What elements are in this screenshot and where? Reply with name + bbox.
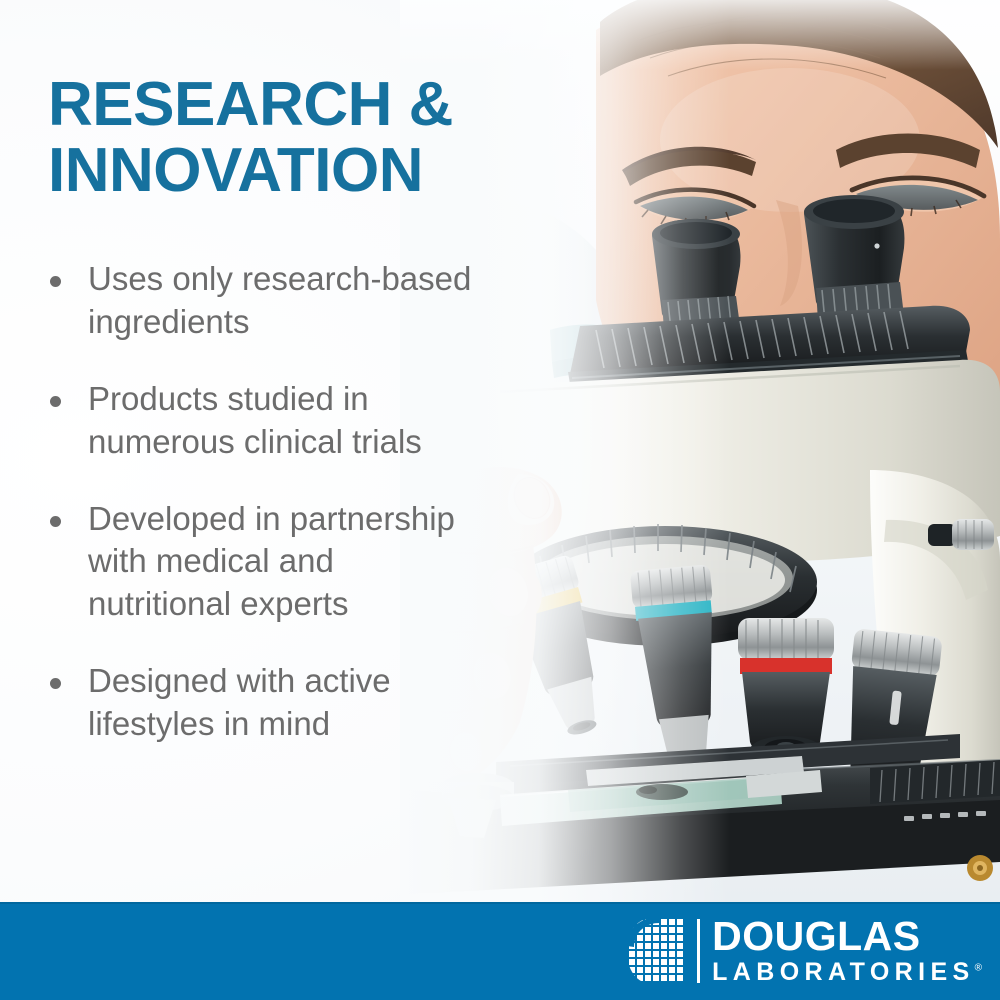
list-item-label: Designed with active lifestyles in mind [88, 660, 564, 746]
douglas-dot-grid-logomark [625, 916, 689, 986]
brand-name: DOUGLAS [712, 917, 982, 956]
bullet-dot-icon [50, 516, 61, 527]
footer-brand-bar: DOUGLAS LABORATORIES® [0, 902, 1000, 1000]
registered-trademark-icon: ® [975, 962, 982, 973]
page-title: RESEARCH & INNOVATION [48, 72, 548, 205]
benefits-list: Uses only research-based ingredients Pro… [44, 258, 564, 746]
list-item: Uses only research-based ingredients [44, 258, 564, 344]
list-item: Developed in partnership with medical an… [44, 498, 564, 627]
douglas-laboratories-logo: DOUGLAS LABORATORIES® [625, 916, 982, 986]
list-item-label: Products studied in numerous clinical tr… [88, 378, 564, 464]
bullet-dot-icon [50, 396, 61, 407]
infographic-canvas: RESEARCH & INNOVATION Uses only research… [0, 0, 1000, 1000]
list-item-label: Uses only research-based ingredients [88, 258, 564, 344]
bullet-dot-icon [50, 276, 61, 287]
brand-subtitle-text: LABORATORIES [712, 958, 975, 986]
logo-wordmark: DOUGLAS LABORATORIES® [712, 917, 982, 985]
brand-subtitle: LABORATORIES® [712, 959, 982, 985]
list-item: Products studied in numerous clinical tr… [44, 378, 564, 464]
list-item-label: Developed in partnership with medical an… [88, 498, 564, 627]
list-item: Designed with active lifestyles in mind [44, 660, 564, 746]
bullet-dot-icon [50, 678, 61, 689]
footer-top-rule [0, 902, 1000, 904]
logo-divider [697, 919, 700, 983]
